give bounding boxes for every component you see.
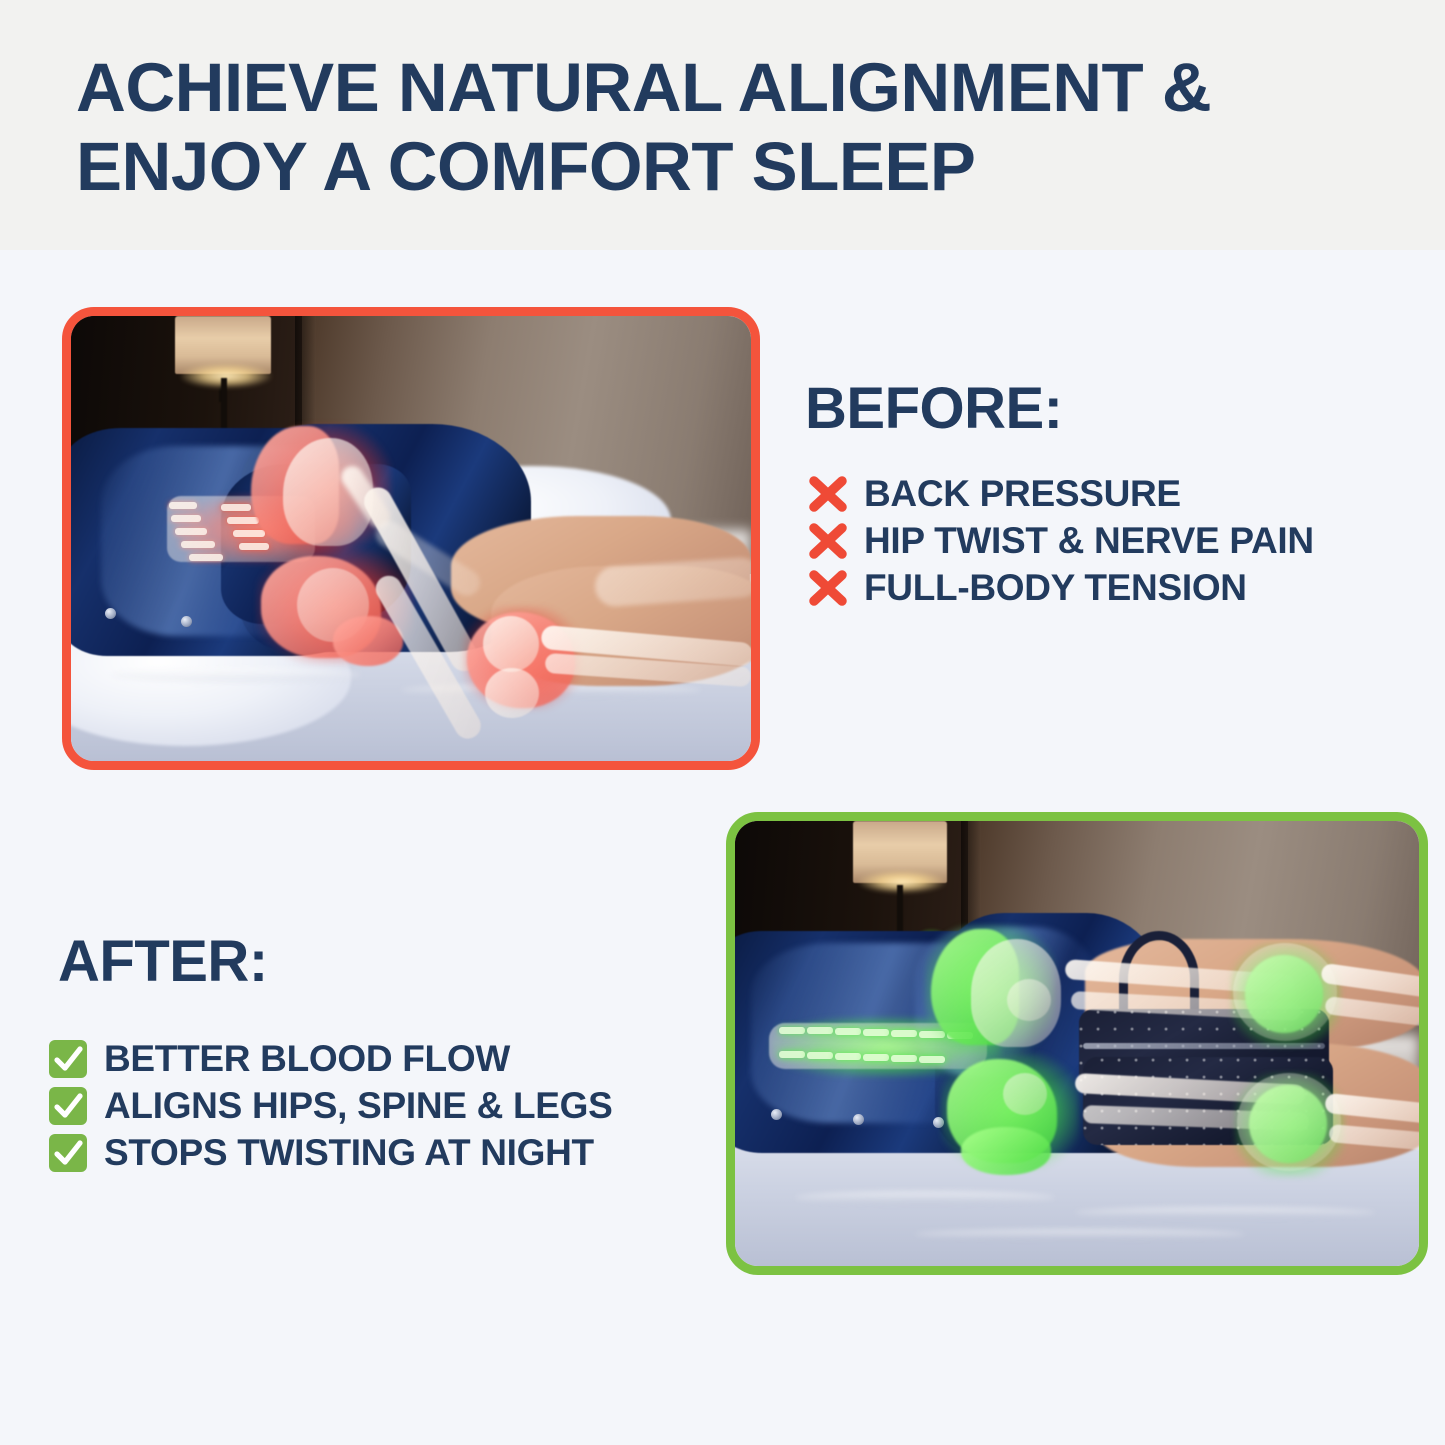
after-list: BETTER BLOOD FLOW ALIGNS HIPS, SPINE & L…	[48, 1035, 613, 1176]
list-item: HIP TWIST & NERVE PAIN	[806, 517, 1314, 564]
after-photo	[735, 821, 1419, 1266]
x-mark-icon	[806, 472, 850, 516]
after-title: AFTER:	[58, 933, 268, 991]
after-photo-frame	[726, 812, 1428, 1275]
list-item: BACK PRESSURE	[806, 470, 1314, 517]
before-photo-frame	[62, 307, 760, 770]
x-mark-icon	[806, 519, 850, 563]
check-box-icon	[48, 1133, 88, 1173]
list-item-label: STOPS TWISTING AT NIGHT	[104, 1134, 594, 1171]
list-item: BETTER BLOOD FLOW	[48, 1035, 613, 1082]
before-list: BACK PRESSURE HIP TWIST & NERVE PAIN FUL…	[806, 470, 1314, 611]
before-title: BEFORE:	[805, 380, 1063, 438]
list-item: ALIGNS HIPS, SPINE & LEGS	[48, 1082, 613, 1129]
list-item-label: BACK PRESSURE	[864, 475, 1181, 512]
before-photo	[71, 316, 751, 761]
list-item: STOPS TWISTING AT NIGHT	[48, 1129, 613, 1176]
list-item-label: ALIGNS HIPS, SPINE & LEGS	[104, 1087, 613, 1124]
list-item-label: FULL-BODY TENSION	[864, 569, 1247, 606]
page-title: ACHIEVE NATURAL ALIGNMENT & ENJOY A COMF…	[76, 48, 1396, 206]
list-item-label: HIP TWIST & NERVE PAIN	[864, 522, 1314, 559]
x-mark-icon	[806, 566, 850, 610]
list-item-label: BETTER BLOOD FLOW	[104, 1040, 510, 1077]
check-box-icon	[48, 1086, 88, 1126]
check-box-icon	[48, 1039, 88, 1079]
list-item: FULL-BODY TENSION	[806, 564, 1314, 611]
